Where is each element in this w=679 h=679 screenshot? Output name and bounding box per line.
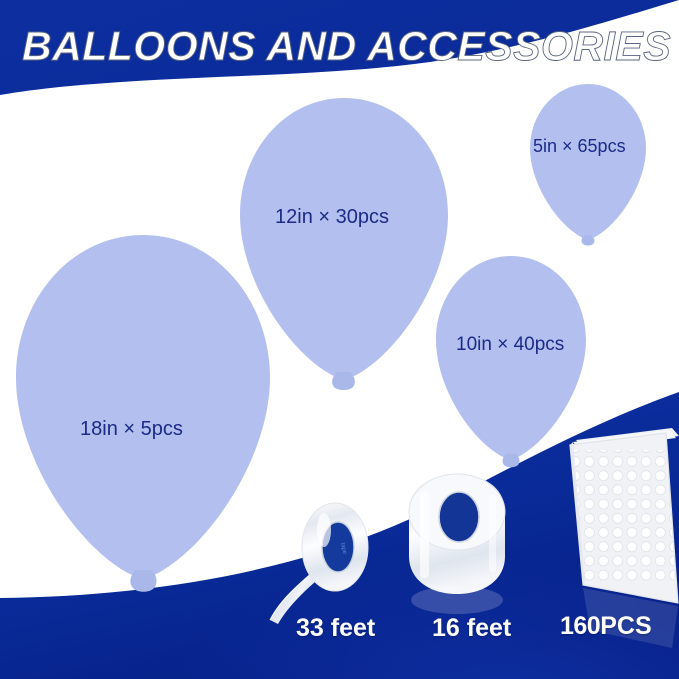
background-waves xyxy=(0,0,679,679)
page-title: BALLOONS AND ACCESSORIES xyxy=(22,23,671,70)
balloon-strip-length-label: 16 feet xyxy=(432,614,511,643)
balloon-12in-label: 12in × 30pcs xyxy=(275,206,389,229)
glue-dot-quantity-label: 160PCS xyxy=(560,612,652,641)
glue-dot-quantity-unit: PCS xyxy=(600,612,651,640)
glue-dot-quantity-number: 160 xyxy=(560,612,600,640)
product-infographic: tape xyxy=(0,0,679,679)
balloon-18in-label: 18in × 5pcs xyxy=(80,418,183,441)
balloon-5in-label: 5in × 65pcs xyxy=(533,136,626,157)
balloon-10in-label: 10in × 40pcs xyxy=(456,334,564,356)
ribbon-tape-length-label: 33 feet xyxy=(296,614,375,643)
